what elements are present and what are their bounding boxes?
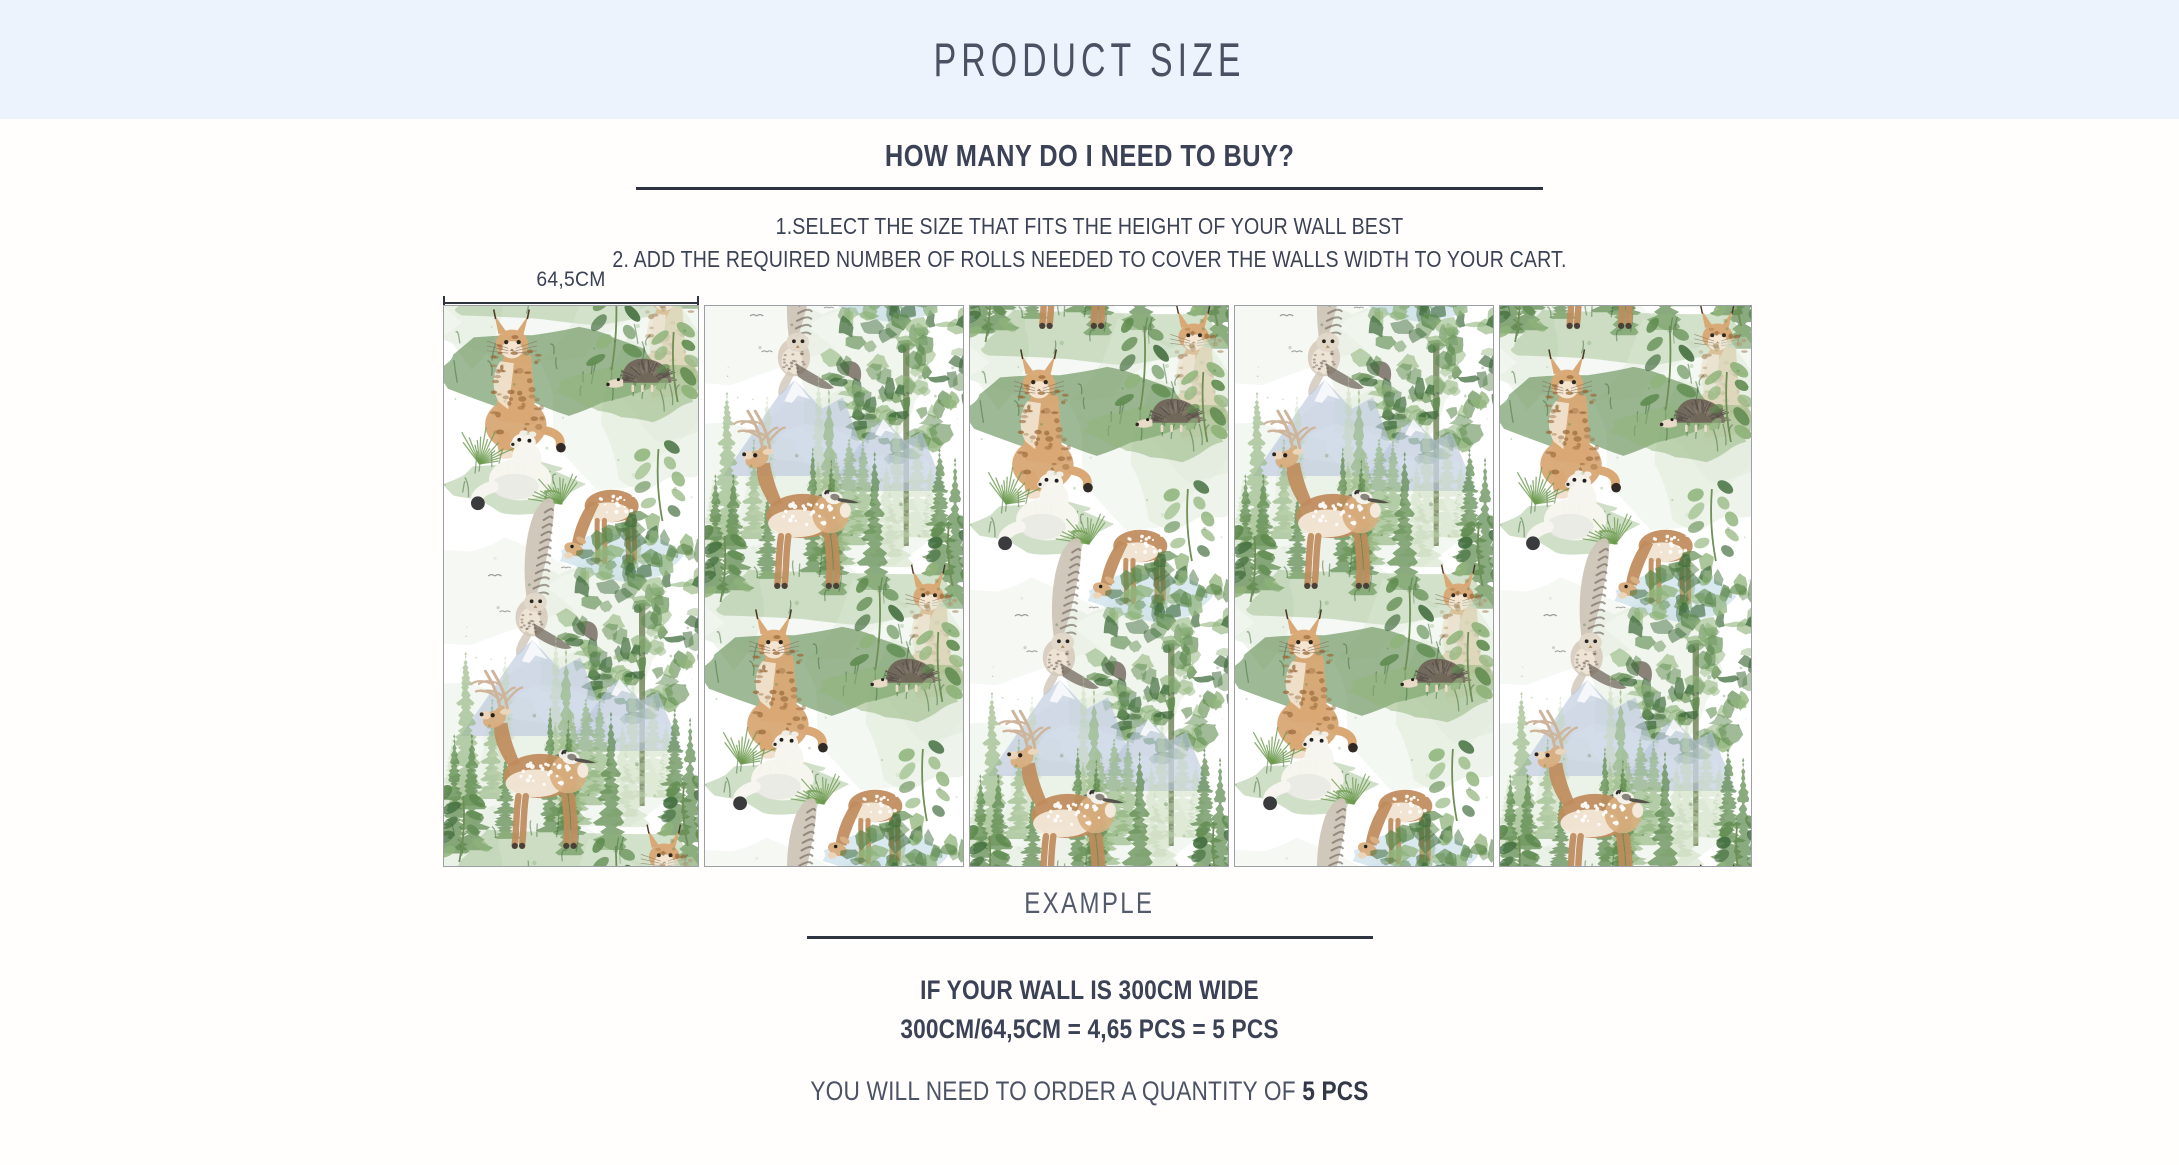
wallpaper-panel[interactable]: [443, 305, 699, 867]
intro-heading: HOW MANY DO I NEED TO BUY?: [885, 138, 1294, 174]
example-calculation: 300CM/64,5CM = 4,65 PCS = 5 PCS: [174, 1010, 2004, 1049]
wallpaper-pattern-artwork: [1235, 306, 1493, 866]
roll-width-dimension: 64,5CM: [443, 268, 699, 310]
wallpaper-panel[interactable]: [969, 305, 1229, 867]
example-wall-width: IF YOUR WALL IS 300CM WIDE: [174, 971, 2004, 1010]
wallpaper-panel[interactable]: [704, 305, 964, 867]
wallpaper-panel[interactable]: [1234, 305, 1494, 867]
example-body: IF YOUR WALL IS 300CM WIDE 300CM/64,5CM …: [0, 971, 2179, 1107]
wallpaper-pattern-artwork: [1500, 306, 1751, 866]
intro-step-1: 1.SELECT THE SIZE THAT FITS THE HEIGHT O…: [163, 210, 2015, 243]
wallpaper-pattern-artwork: [444, 306, 698, 866]
example-conclusion: YOU WILL NEED TO ORDER A QUANTITY OF 5 P…: [174, 1076, 2004, 1107]
example-heading: EXAMPLE: [1024, 887, 1154, 921]
intro-section: HOW MANY DO I NEED TO BUY? 1.SELECT THE …: [0, 119, 2179, 276]
roll-width-label: 64,5CM: [453, 268, 689, 292]
page-title: PRODUCT SIZE: [934, 32, 1246, 87]
intro-steps-list: 1.SELECT THE SIZE THAT FITS THE HEIGHT O…: [0, 210, 2179, 276]
wallpaper-pattern-artwork: [705, 306, 963, 866]
intro-divider: [636, 187, 1543, 190]
example-conclusion-prefix: YOU WILL NEED TO ORDER A QUANTITY OF: [810, 1076, 1302, 1106]
dimension-line-bar: [443, 302, 699, 304]
example-conclusion-value: 5 PCS: [1302, 1076, 1368, 1106]
example-divider: [807, 936, 1373, 939]
wallpaper-pattern-artwork: [970, 306, 1228, 866]
intro-step-2: 2. ADD THE REQUIRED NUMBER OF ROLLS NEED…: [163, 243, 2015, 276]
wallpaper-panel-row: [443, 305, 1737, 867]
example-section: EXAMPLE IF YOUR WALL IS 300CM WIDE 300CM…: [0, 887, 2179, 1107]
page-header-band: PRODUCT SIZE: [0, 0, 2179, 119]
wallpaper-panel[interactable]: [1499, 305, 1752, 867]
